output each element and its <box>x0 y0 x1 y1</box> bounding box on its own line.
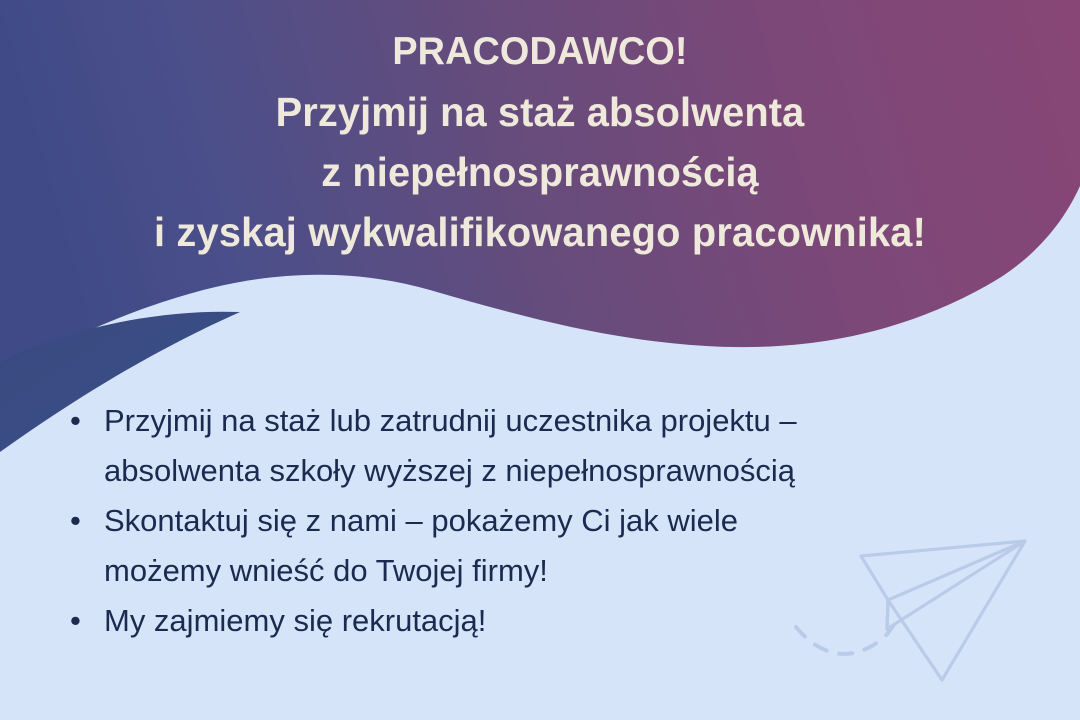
list-item: • Skontaktuj się z nami – pokażemy Ci ja… <box>62 496 1022 596</box>
list-item-line: Skontaktuj się z nami – pokażemy Ci jak … <box>104 496 1014 546</box>
benefits-list: • Przyjmij na staż lub zatrudnij uczestn… <box>62 396 1022 646</box>
bullet-marker-icon: • <box>62 496 104 546</box>
list-item: • My zajmiemy się rekrutacją! <box>62 596 1022 646</box>
list-item-text: My zajmiemy się rekrutacją! <box>104 596 1014 646</box>
list-item-line: absolwenta szkoły wyższej z niepełnospra… <box>104 446 1014 496</box>
bullet-marker-icon: • <box>62 596 104 646</box>
list-item-line: Przyjmij na staż lub zatrudnij uczestnik… <box>104 396 1014 446</box>
list-item-line: możemy wnieść do Twojej firmy! <box>104 546 1014 596</box>
list-item-text: Skontaktuj się z nami – pokażemy Ci jak … <box>104 496 1014 596</box>
list-item: • Przyjmij na staż lub zatrudnij uczestn… <box>62 396 1022 496</box>
list-item-text: Przyjmij na staż lub zatrudnij uczestnik… <box>104 396 1014 496</box>
bullet-marker-icon: • <box>62 396 104 446</box>
list-item-line: My zajmiemy się rekrutacją! <box>104 596 1014 646</box>
poster-canvas: PRACODAWCO! Przyjmij na staż absolwenta … <box>0 0 1080 720</box>
